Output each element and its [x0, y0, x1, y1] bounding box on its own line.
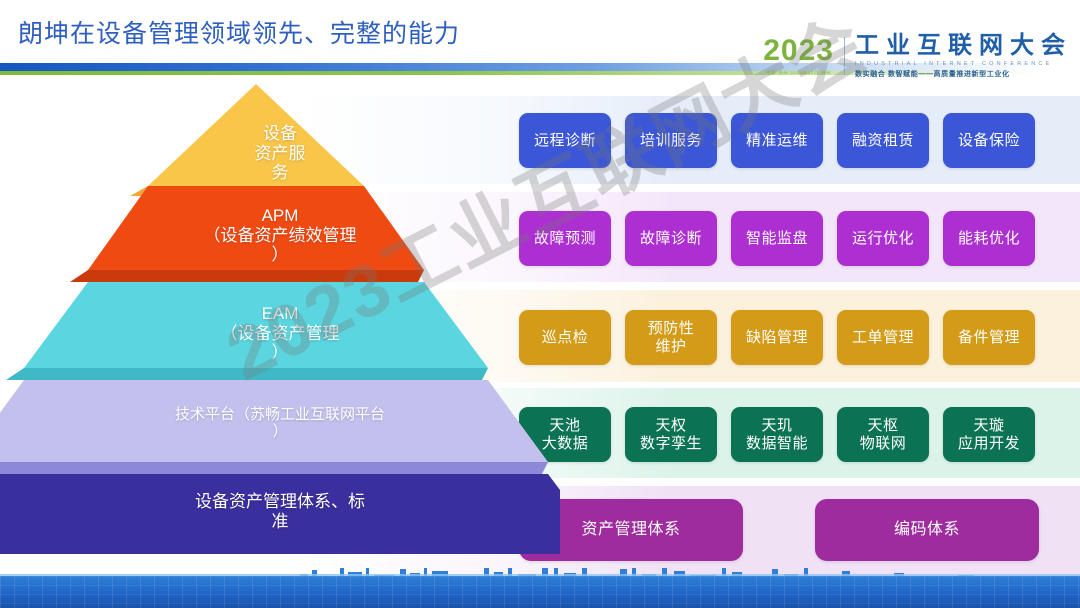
- pyramid-layer-apex[interactable]: 设备资产服务: [0, 84, 560, 202]
- capability-box-apm-4[interactable]: 运行优化: [837, 211, 929, 266]
- pyramid-layer-label-platform: 技术平台（苏畅工业互联网平台）: [0, 406, 560, 441]
- conference-logo: 2023 中国·苏州 2023年12月·苏州 工业互联网大会 INDUSTRIA…: [763, 32, 1072, 80]
- logo-year-block: 2023 中国·苏州 2023年12月·苏州: [763, 36, 844, 76]
- capability-box-label: 编码体系: [894, 521, 960, 540]
- capability-box-label: 培训服务: [640, 132, 702, 150]
- footer-skyline: [0, 568, 1080, 608]
- capability-box-label: 智能监盘: [746, 230, 808, 248]
- capability-box-service-5[interactable]: 设备保险: [943, 113, 1035, 168]
- capability-box-label: 设备保险: [958, 132, 1020, 150]
- capability-box-platform-3[interactable]: 天玑数据智能: [731, 407, 823, 462]
- pyramid-layer-standard[interactable]: 设备资产管理体系、标准: [0, 474, 560, 560]
- capability-box-label: 能耗优化: [958, 230, 1020, 248]
- capability-box-eam-5[interactable]: 备件管理: [943, 310, 1035, 365]
- capability-box-label: 天璇应用开发: [958, 417, 1020, 452]
- logo-tagline: 数实融合 数智赋能——高质量推进新型工业化: [855, 69, 1072, 79]
- capability-box-label: 备件管理: [958, 329, 1020, 347]
- pyramid-layer-label-standard: 设备资产管理体系、标准: [0, 492, 560, 531]
- capability-box-label: 融资租赁: [852, 132, 914, 150]
- pyramid-layer-platform[interactable]: 技术平台（苏畅工业互联网平台）: [0, 380, 560, 480]
- capability-box-label: 天权数字孪生: [640, 417, 702, 452]
- capability-box-label: 缺陷管理: [746, 329, 808, 347]
- capability-box-eam-4[interactable]: 工单管理: [837, 310, 929, 365]
- capability-box-label: 精准运维: [746, 132, 808, 150]
- capability-box-label: 天玑数据智能: [746, 417, 808, 452]
- pyramid-layer-eam[interactable]: EAM（设备资产管理）: [0, 282, 560, 386]
- capability-box-standard-2[interactable]: 编码体系: [815, 499, 1039, 561]
- logo-name-block: 工业互联网大会 INDUSTRIAL INTERNET CONFERENCE 数…: [855, 34, 1072, 79]
- capability-box-eam-3[interactable]: 缺陷管理: [731, 310, 823, 365]
- skyline-grid-overlay: [0, 576, 1080, 608]
- capability-pyramid: 设备资产服务APM（设备资产绩效管理）EAM（设备资产管理）技术平台（苏畅工业互…: [0, 84, 560, 584]
- pyramid-layer-apm[interactable]: APM（设备资产绩效管理）: [0, 186, 560, 288]
- logo-name-cn: 工业互联网大会: [855, 34, 1072, 58]
- slide-canvas: 朗坤在设备管理领域领先、完整的能力 2023 中国·苏州 2023年12月·苏州…: [0, 0, 1080, 608]
- page-title: 朗坤在设备管理领域领先、完整的能力: [18, 14, 460, 50]
- capability-box-service-4[interactable]: 融资租赁: [837, 113, 929, 168]
- capability-box-label: 天枢物联网: [860, 417, 907, 452]
- capability-box-service-2[interactable]: 培训服务: [625, 113, 717, 168]
- pyramid-layer-base: [70, 270, 424, 282]
- capability-box-label: 预防性维护: [648, 320, 695, 355]
- capability-box-label: 运行优化: [852, 230, 914, 248]
- capability-box-platform-2[interactable]: 天权数字孪生: [625, 407, 717, 462]
- pyramid-layer-base: [0, 462, 548, 474]
- pyramid-layer-base: [6, 368, 488, 380]
- pyramid-layer-label-apex: 设备资产服务: [0, 124, 560, 183]
- capability-box-apm-2[interactable]: 故障诊断: [625, 211, 717, 266]
- pyramid-layer-label-apm: APM（设备资产绩效管理）: [0, 206, 560, 265]
- capability-box-label: 工单管理: [852, 329, 914, 347]
- logo-separator-icon: [844, 37, 845, 75]
- capability-box-label: 资产管理体系: [581, 521, 680, 540]
- capability-box-apm-5[interactable]: 能耗优化: [943, 211, 1035, 266]
- capability-box-platform-5[interactable]: 天璇应用开发: [943, 407, 1035, 462]
- capability-box-eam-2[interactable]: 预防性维护: [625, 310, 717, 365]
- capability-box-platform-4[interactable]: 天枢物联网: [837, 407, 929, 462]
- capability-box-service-3[interactable]: 精准运维: [731, 113, 823, 168]
- logo-name-en: INDUSTRIAL INTERNET CONFERENCE: [855, 61, 1072, 67]
- pyramid-layer-label-eam: EAM（设备资产管理）: [0, 304, 560, 363]
- logo-year-text: 2023: [763, 36, 834, 66]
- capability-box-apm-3[interactable]: 智能监盘: [731, 211, 823, 266]
- logo-year-subtext: 中国·苏州 2023年12月·苏州: [766, 70, 831, 75]
- capability-box-label: 故障诊断: [640, 230, 702, 248]
